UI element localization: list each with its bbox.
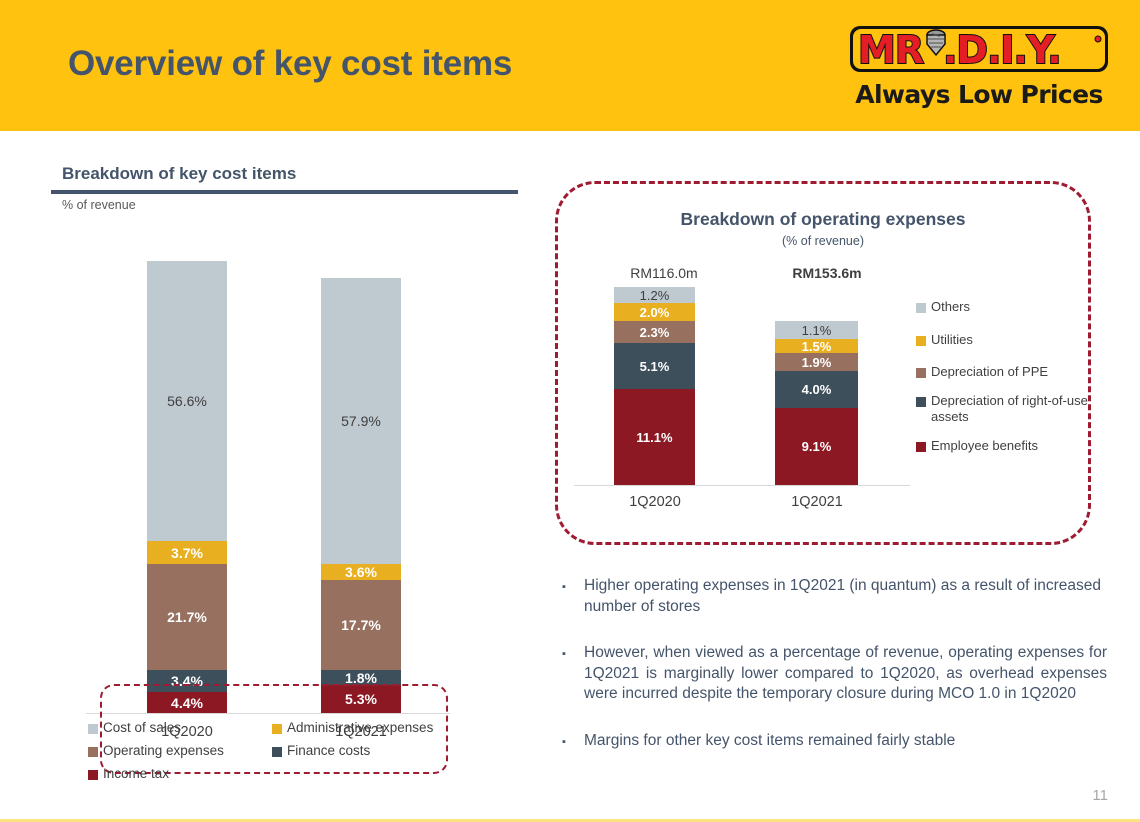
right-seg-depreciation-rou-2021: 4.0% <box>775 371 858 408</box>
right-panel: Breakdown of operating expenses (% of re… <box>540 131 1140 822</box>
legend-swatch-icon <box>272 724 282 734</box>
bullet-text: Margins for other key cost items remaine… <box>584 731 955 753</box>
right-seg-utilities-2020: 2.0% <box>614 303 695 321</box>
right-seg-others-2020: 1.2% <box>614 287 695 303</box>
key-cost-items-chart: 56.6% 3.7% 21.7% 3.4% 4.4% 57.9% 3.6% 17… <box>60 226 470 786</box>
legend-label: Administrative expenses <box>287 720 433 735</box>
left-seg-operating-2020: 21.7% <box>147 564 227 670</box>
left-seg-finance-2020: 3.4% <box>147 670 227 692</box>
left-axis-line <box>86 713 450 714</box>
svg-text:.D.I.Y.: .D.I.Y. <box>943 28 1061 72</box>
mrdiy-logo: MR .D.I.Y. Always Low Prices <box>848 22 1110 114</box>
left-seg-income-tax-2021: 5.3% <box>321 685 401 713</box>
right-seg-depreciation-ppe-2021: 1.9% <box>775 353 858 371</box>
legend-label: Depreciation of PPE <box>931 364 1048 380</box>
legend-label: Employee benefits <box>931 438 1038 454</box>
legend-item-income-tax: Income tax <box>88 766 272 781</box>
bullet-item: ▪ Higher operating expenses in 1Q2021 (i… <box>562 576 1107 617</box>
right-seg-utilities-2021: 1.5% <box>775 339 858 353</box>
right-chart-subtitle: (% of revenue) <box>555 234 1091 248</box>
bar-total-1q2021: RM153.6m <box>757 265 897 281</box>
bullet-marker-icon: ▪ <box>562 643 584 705</box>
legend-swatch-icon <box>916 336 926 346</box>
right-seg-others-2021: 1.1% <box>775 321 858 339</box>
left-axis-caption: % of revenue <box>62 198 136 212</box>
commentary-bullets: ▪ Higher operating expenses in 1Q2021 (i… <box>562 576 1107 779</box>
bullet-marker-icon: ▪ <box>562 576 584 617</box>
left-bar-1q2021: 57.9% 3.6% 17.7% 1.8% 5.3% <box>321 278 401 713</box>
legend-item-operating-expenses: Operating expenses <box>88 743 272 758</box>
left-seg-administrative-2021: 3.6% <box>321 564 401 580</box>
legend-swatch-icon <box>88 770 98 780</box>
left-chart-legend: Cost of sales Administrative expenses Op… <box>88 720 488 789</box>
right-category-1q2020: 1Q2020 <box>595 494 715 510</box>
bullet-item: ▪ However, when viewed as a percentage o… <box>562 643 1107 705</box>
left-section-heading: Breakdown of key cost items <box>62 164 296 184</box>
legend-label: Cost of sales <box>103 720 181 735</box>
legend-swatch-icon <box>88 747 98 757</box>
legend-label: Others <box>931 299 970 315</box>
right-seg-employee-benefits-2020: 11.1% <box>614 389 695 485</box>
legend-swatch-icon <box>916 397 926 407</box>
legend-item-employee-benefits: Employee benefits <box>916 438 1091 454</box>
page-title: Overview of key cost items <box>68 44 512 84</box>
left-seg-finance-2021: 1.8% <box>321 670 401 685</box>
bullet-text: However, when viewed as a percentage of … <box>584 643 1107 705</box>
bullet-text: Higher operating expenses in 1Q2021 (in … <box>584 576 1107 617</box>
legend-row: Cost of sales Administrative expenses <box>88 720 488 735</box>
left-section-divider <box>51 190 518 194</box>
page-number: 11 <box>1092 787 1108 804</box>
right-bar-1q2020: 1.2% 2.0% 2.3% 5.1% 11.1% <box>614 287 695 485</box>
right-seg-employee-benefits-2021: 9.1% <box>775 408 858 485</box>
right-chart-legend: Others Utilities Depreciation of PPE Dep… <box>916 299 1091 468</box>
left-panel: Breakdown of key cost items % of revenue… <box>0 131 540 822</box>
right-bar-1q2021: 1.1% 1.5% 1.9% 4.0% 9.1% <box>775 321 858 485</box>
right-seg-depreciation-ppe-2020: 2.3% <box>614 321 695 343</box>
legend-label: Finance costs <box>287 743 370 758</box>
legend-row: Income tax <box>88 766 488 781</box>
legend-item-finance-costs: Finance costs <box>272 743 370 758</box>
bullet-item: ▪ Margins for other key cost items remai… <box>562 731 1107 753</box>
left-seg-cost-of-sales-2020: 56.6% <box>147 261 227 541</box>
legend-swatch-icon <box>916 303 926 313</box>
legend-label: Utilities <box>931 332 973 348</box>
logo-tagline: Always Low Prices <box>848 80 1110 109</box>
left-seg-income-tax-2020: 4.4% <box>147 692 227 713</box>
bullet-marker-icon: ▪ <box>562 731 584 753</box>
legend-label: Operating expenses <box>103 743 224 758</box>
left-seg-administrative-2020: 3.7% <box>147 541 227 564</box>
right-category-1q2021: 1Q2021 <box>757 494 877 510</box>
svg-text:MR: MR <box>858 28 924 72</box>
legend-item-administrative-expenses: Administrative expenses <box>272 720 433 735</box>
legend-row: Operating expenses Finance costs <box>88 743 488 758</box>
bar-total-1q2020: RM116.0m <box>594 265 734 281</box>
legend-label: Income tax <box>103 766 169 781</box>
legend-item-others: Others <box>916 299 1091 315</box>
right-seg-depreciation-rou-2020: 5.1% <box>614 343 695 389</box>
legend-item-depreciation-ppe: Depreciation of PPE <box>916 364 1091 380</box>
legend-item-cost-of-sales: Cost of sales <box>88 720 272 735</box>
legend-item-utilities: Utilities <box>916 332 1091 348</box>
legend-swatch-icon <box>916 368 926 378</box>
left-plot-area: 56.6% 3.7% 21.7% 3.4% 4.4% 57.9% 3.6% 17… <box>60 226 470 786</box>
left-seg-operating-2021: 17.7% <box>321 580 401 670</box>
legend-swatch-icon <box>88 724 98 734</box>
right-axis-line <box>574 485 910 486</box>
left-bar-1q2020: 56.6% 3.7% 21.7% 3.4% 4.4% <box>147 261 227 713</box>
left-seg-cost-of-sales-2021: 57.9% <box>321 278 401 564</box>
legend-swatch-icon <box>916 442 926 452</box>
right-chart-title: Breakdown of operating expenses <box>555 209 1091 230</box>
logo-wordmark-icon: MR .D.I.Y. <box>848 22 1110 78</box>
legend-label: Depreciation of right-of-use assets <box>931 393 1091 426</box>
legend-swatch-icon <box>272 747 282 757</box>
legend-item-depreciation-rou: Depreciation of right-of-use assets <box>916 393 1091 426</box>
